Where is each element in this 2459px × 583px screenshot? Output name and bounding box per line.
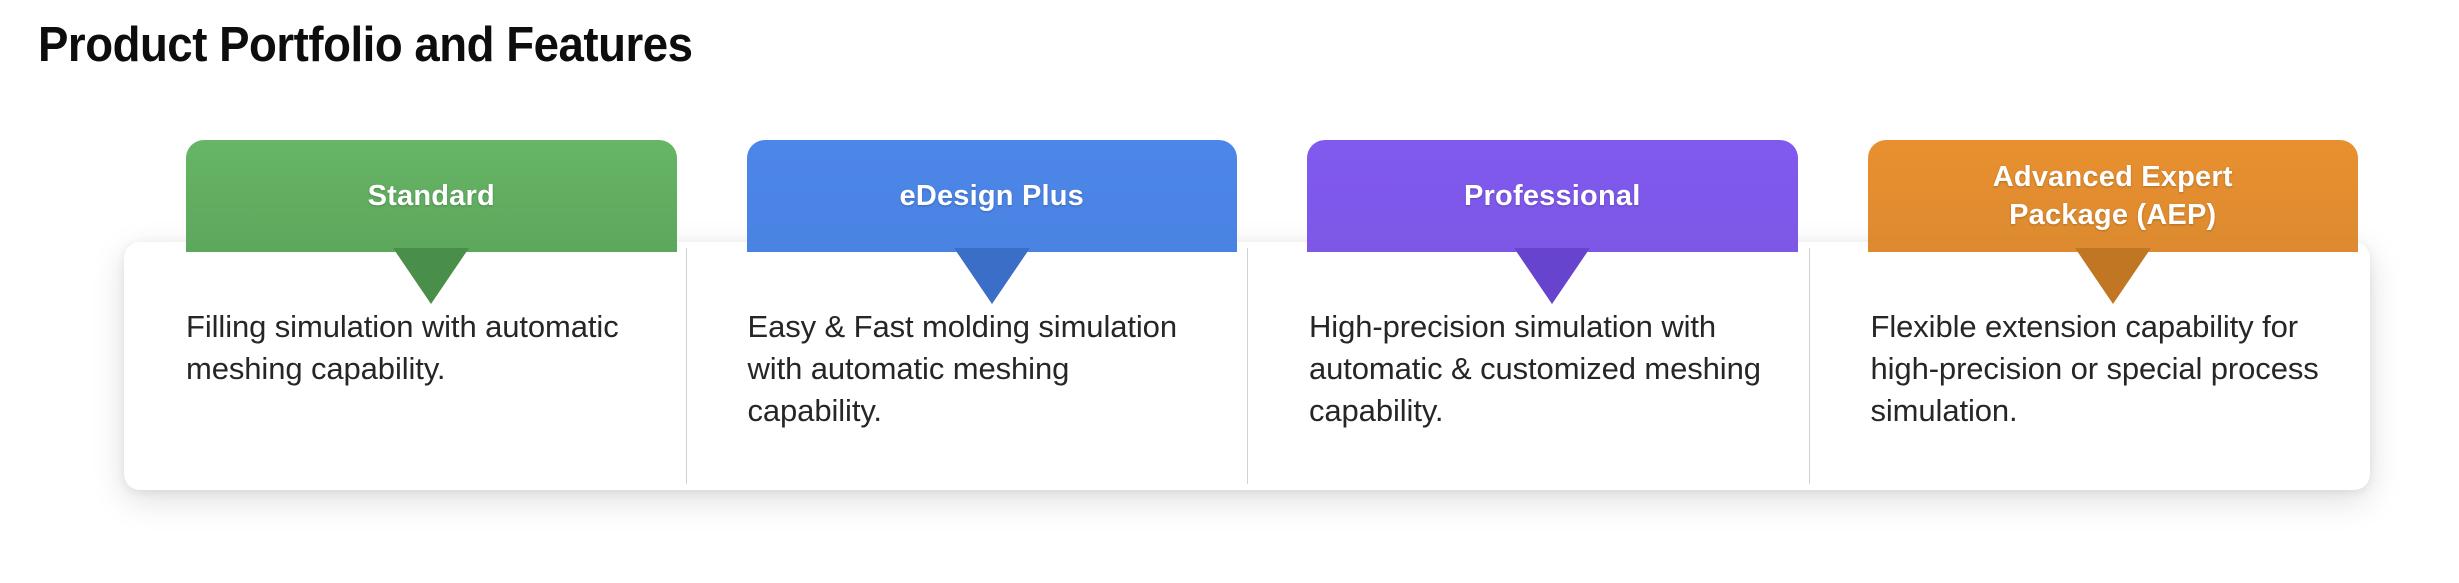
product-tab-label: Professional [1454, 177, 1650, 215]
triangle-pointer-icon [1514, 248, 1590, 304]
product-tab-label: Advanced Expert Package (AEP) [1983, 158, 2243, 234]
triangle-pointer-icon [954, 248, 1030, 304]
product-description-text: High-precision simulation with automatic… [1309, 306, 1763, 432]
product-tab-edesign-plus[interactable]: eDesign Plus [747, 140, 1238, 252]
product-tab-advanced-expert-package[interactable]: Advanced Expert Package (AEP) [1868, 140, 2359, 252]
product-description-text: Flexible extension capability for high-p… [1871, 306, 2325, 432]
triangle-pointer-icon [393, 248, 469, 304]
product-description-text: Filling simulation with automatic meshin… [186, 306, 640, 390]
product-tab-standard[interactable]: Standard [186, 140, 677, 252]
product-tab-strip: Standard eDesign Plus Professional Advan… [186, 140, 2358, 252]
triangle-pointer-icon [2075, 248, 2151, 304]
page-title: Product Portfolio and Features [38, 17, 692, 73]
product-tab-label: Standard [358, 177, 505, 215]
product-tab-professional[interactable]: Professional [1307, 140, 1798, 252]
product-portfolio-slide: Product Portfolio and Features Standard … [0, 0, 2459, 583]
product-tab-label: eDesign Plus [889, 177, 1094, 215]
product-description-text: Easy & Fast molding simulation with auto… [748, 306, 1202, 432]
